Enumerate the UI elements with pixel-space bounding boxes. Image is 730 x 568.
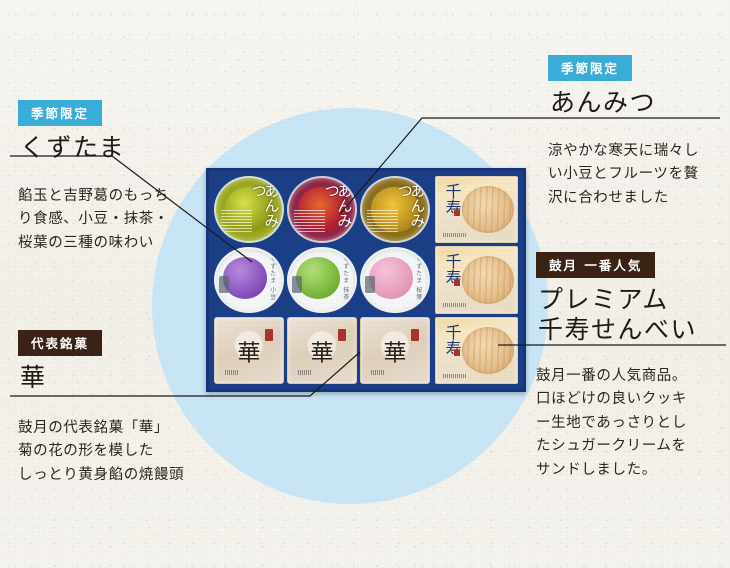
- badge-signature-sweet: 代表銘菓: [18, 330, 102, 356]
- kuzutama-flavor-label: くずたま 桜葉: [414, 256, 423, 301]
- badge-seasonal-limited: 季節限定: [548, 55, 632, 81]
- anmitsu-ingredient-text: [221, 209, 251, 232]
- callout-body-senbei: 鼓月一番の人気商品。 口ほどけの良いクッキ ー生地であっさりとし たシュガークリ…: [536, 365, 726, 482]
- hana-brand-text: [298, 370, 313, 375]
- body-line: 沢に合わせました: [548, 187, 726, 210]
- body-line: しっとり黄身餡の焼饅頭: [18, 464, 228, 487]
- hana-kanji-label: 華: [384, 333, 407, 367]
- senju-senbei-pack: 千寿: [435, 317, 518, 384]
- anmitsu-ingredient-text: [294, 209, 324, 232]
- callout-title-senbei: プレミアム 千寿せんべい: [538, 285, 726, 345]
- body-line: 涼やかな寒天に瑞々し: [548, 140, 726, 163]
- kuzutama-jelly-fill: [296, 257, 340, 298]
- hana-manju: 華: [360, 317, 430, 384]
- body-line: い小豆とフルーツを贅: [548, 163, 726, 186]
- callout-kuzutama: 季節限定 くずたま 餡玉と吉野葛のもっち り食感、小豆・抹茶・ 桜葉の三種の味わ…: [18, 100, 208, 255]
- hana-red-seal: [411, 329, 419, 341]
- hana-manju-row: 華 華 華: [214, 317, 430, 384]
- anmitsu-cup: あんみつ: [214, 176, 284, 243]
- body-line: 鼓月一番の人気商品。: [536, 365, 726, 388]
- senbei-red-seal: [454, 210, 460, 216]
- hana-kanji-label: 華: [311, 333, 334, 367]
- body-line: サンドしました。: [536, 459, 726, 482]
- box-right-section: 千寿 千寿 千寿: [435, 176, 518, 384]
- senju-senbei-pack: 千寿: [435, 246, 518, 313]
- callout-body-hana: 鼓月の代表銘菓「華」 菊の花の形を模した しっとり黄身餡の焼饅頭: [18, 417, 228, 487]
- anmitsu-lid-label: あんみつ: [252, 183, 278, 241]
- hana-red-seal: [265, 329, 273, 341]
- page-background: あんみつ あんみつ あんみつ くずたま 小豆: [0, 0, 730, 568]
- senbei-brand-text: [443, 374, 466, 378]
- anmitsu-ingredient-text: [367, 209, 397, 232]
- badge-seasonal-limited: 季節限定: [18, 100, 102, 126]
- kuzutama-brand-stamp: [365, 276, 374, 292]
- kuzutama-brand-stamp: [292, 276, 301, 292]
- kuzutama-row: くずたま 小豆 くずたま 抹茶 くずたま 桜葉: [214, 247, 430, 314]
- callout-hana: 代表銘菓 華 鼓月の代表銘菓「華」 菊の花の形を模した しっとり黄身餡の焼饅頭: [18, 330, 228, 487]
- kuzutama-jelly: くずたま 桜葉: [360, 247, 430, 314]
- senbei-cookie: [462, 327, 514, 374]
- anmitsu-lid-label: あんみつ: [398, 183, 424, 241]
- body-line: 菊の花の形を模した: [18, 440, 228, 463]
- kuzutama-jelly: くずたま 小豆: [214, 247, 284, 314]
- hana-red-seal: [338, 329, 346, 341]
- body-line: り食感、小豆・抹茶・: [18, 208, 208, 231]
- callout-title-kuzutama: くずたま: [20, 133, 208, 163]
- product-gift-box-photo: あんみつ あんみつ あんみつ くずたま 小豆: [206, 168, 526, 392]
- body-line: 餡玉と吉野葛のもっち: [18, 185, 208, 208]
- kuzutama-flavor-label: くずたま 小豆: [268, 256, 277, 301]
- senbei-red-seal: [454, 350, 460, 356]
- hana-kanji-label: 華: [238, 333, 261, 367]
- kuzutama-flavor-label: くずたま 抹茶: [341, 256, 350, 301]
- hana-manju: 華: [287, 317, 357, 384]
- callout-senbei: 鼓月 一番人気 プレミアム 千寿せんべい 鼓月一番の人気商品。 口ほどけの良いク…: [536, 252, 726, 482]
- callout-title-anmitsu: あんみつ: [550, 88, 726, 118]
- senju-senbei-pack: 千寿: [435, 176, 518, 243]
- title-line: プレミアム: [538, 285, 726, 315]
- body-line: 鼓月の代表銘菓「華」: [18, 417, 228, 440]
- anmitsu-cup: あんみつ: [360, 176, 430, 243]
- kuzutama-jelly: くずたま 抹茶: [287, 247, 357, 314]
- body-line: たシュガークリームを: [536, 435, 726, 458]
- title-line: 千寿せんべい: [538, 315, 726, 345]
- callout-body-kuzutama: 餡玉と吉野葛のもっち り食感、小豆・抹茶・ 桜葉の三種の味わい: [18, 185, 208, 255]
- senbei-cookie: [462, 256, 514, 303]
- kuzutama-jelly-fill: [369, 257, 413, 298]
- anmitsu-row: あんみつ あんみつ あんみつ: [214, 176, 430, 243]
- senbei-red-seal: [454, 280, 460, 286]
- kuzutama-jelly-fill: [223, 257, 267, 298]
- badge-most-popular: 鼓月 一番人気: [536, 252, 655, 278]
- body-line: 口ほどけの良いクッキ: [536, 388, 726, 411]
- callout-title-hana: 華: [20, 363, 228, 393]
- kuzutama-brand-stamp: [219, 276, 228, 292]
- callout-anmitsu: 季節限定 あんみつ 涼やかな寒天に瑞々し い小豆とフルーツを贅 沢に合わせました: [548, 55, 726, 210]
- body-line: ー生地であっさりとし: [536, 412, 726, 435]
- senbei-brand-text: [443, 233, 466, 237]
- anmitsu-cup: あんみつ: [287, 176, 357, 243]
- senbei-brand-text: [443, 303, 466, 307]
- anmitsu-lid-label: あんみつ: [325, 183, 351, 241]
- box-left-section: あんみつ あんみつ あんみつ くずたま 小豆: [214, 176, 430, 384]
- body-line: 桜葉の三種の味わい: [18, 232, 208, 255]
- callout-body-anmitsu: 涼やかな寒天に瑞々し い小豆とフルーツを贅 沢に合わせました: [548, 140, 726, 210]
- hana-brand-text: [371, 370, 386, 375]
- senbei-cookie: [462, 186, 514, 233]
